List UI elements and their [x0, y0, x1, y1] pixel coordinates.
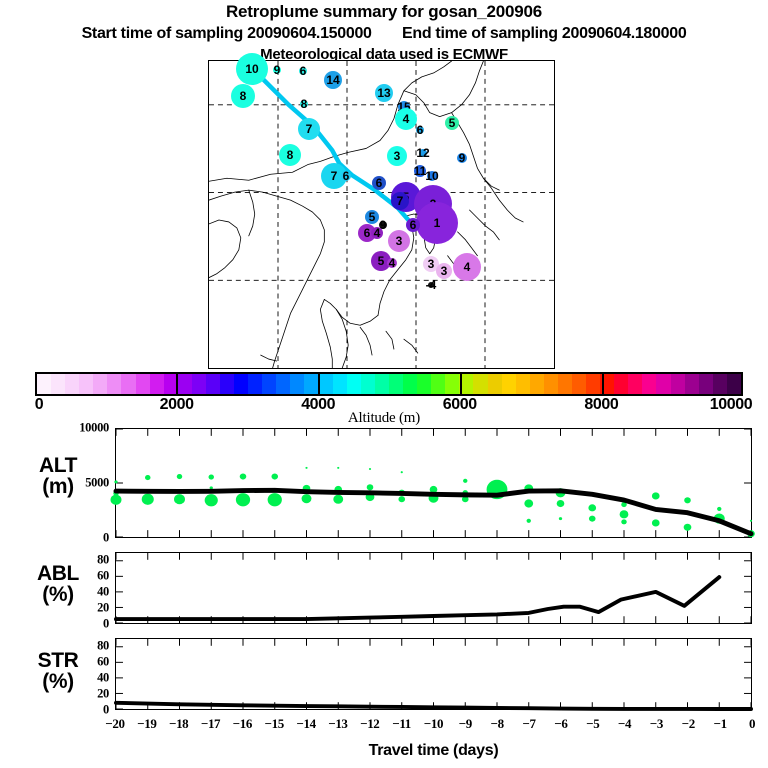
colorbar-swatch [361, 374, 375, 394]
altitude-dot [333, 495, 343, 504]
abl-ytick-20: 20 [97, 601, 109, 616]
map-graphics [209, 61, 554, 368]
altitude-dot [750, 520, 752, 522]
altitude-dot [652, 519, 660, 526]
colorbar-swatch [671, 374, 685, 394]
map-marker-label: 4 [403, 113, 410, 125]
colorbar-sep-4000 [318, 372, 320, 396]
colorbar-swatch [488, 374, 502, 394]
map-marker-label: 5 [449, 117, 456, 129]
xtick--13: −13 [328, 716, 347, 732]
str-axis-label: STR (%) [6, 650, 110, 693]
colorbar-swatch [234, 374, 248, 394]
map-marker-label: 6 [417, 124, 424, 136]
str-plot [116, 639, 751, 709]
abl-axis-label: ABL (%) [6, 563, 110, 606]
str-ytick-80: 80 [97, 639, 109, 654]
page-title: Retroplume summary for gosan_200906 [0, 2, 768, 22]
str-panel[interactable] [115, 638, 752, 710]
colorbar-swatch [333, 374, 347, 394]
alt-ytick-10000: 10000 [79, 421, 109, 436]
map-marker-label: 5 [369, 211, 376, 223]
altitude-dot [305, 467, 307, 469]
map-marker-label: 4 [389, 257, 396, 269]
altitude-dot [271, 473, 278, 479]
altitude-dot [268, 493, 282, 506]
xtick--16: −16 [233, 716, 252, 732]
altitude-dot [111, 495, 122, 505]
xtick--1: −1 [714, 716, 727, 732]
colorbar-swatch [699, 374, 713, 394]
xtick--19: −19 [137, 716, 156, 732]
str-ytick-20: 20 [97, 687, 109, 702]
map-marker-label: 6 [364, 227, 371, 239]
colorbar-swatch [65, 374, 79, 394]
xtick--6: −6 [554, 716, 567, 732]
colorbar-swatch [319, 374, 333, 394]
colorbar-swatch [150, 374, 164, 394]
altitude-panel[interactable] [115, 428, 752, 538]
colorbar-swatch [37, 374, 51, 394]
xtick--2: −2 [682, 716, 695, 732]
start-time-label: Start time of sampling 20090604.150000 [82, 25, 372, 42]
map-marker-label: 12 [416, 147, 429, 159]
map-marker-label: -4 [426, 279, 437, 291]
colorbar-swatch [107, 374, 121, 394]
colorbar-swatch [206, 374, 220, 394]
abl-ytick-80: 80 [97, 553, 109, 568]
colorbar-swatch [614, 374, 628, 394]
colorbar-swatch [417, 374, 431, 394]
altitude-dot [588, 504, 596, 511]
colorbar-swatch [290, 374, 304, 394]
map-marker-label: 10 [425, 170, 438, 182]
xtick--15: −15 [265, 716, 284, 732]
abl-ytick-60: 60 [97, 569, 109, 584]
colorbar-swatch [192, 374, 206, 394]
colorbar-swatch [431, 374, 445, 394]
map-marker-label: 7 [397, 195, 404, 207]
map-marker-label: 6 [343, 170, 350, 182]
altitude-dot [177, 474, 182, 479]
colorbar-swatch [389, 374, 403, 394]
altitude-dot [401, 471, 403, 473]
x-axis-title: Travel time (days) [115, 742, 752, 760]
map-marker-label: 10 [245, 63, 258, 75]
colorbar-swatch [276, 374, 290, 394]
abl-ytick-40: 40 [97, 585, 109, 600]
colorbar-sep-6000 [460, 372, 462, 396]
map-panel[interactable]: 1096881413154567831297611106572516936454… [208, 60, 555, 369]
altitude-dot [240, 473, 247, 479]
alt-ytick-5000: 5000 [85, 476, 109, 491]
abl-ytick-0: 0 [103, 617, 109, 632]
map-marker-label: 3 [441, 265, 448, 277]
altitude-dot [337, 467, 339, 469]
colorbar-swatch [502, 374, 516, 394]
xtick--10: −10 [424, 716, 443, 732]
map-marker-label: 9 [459, 152, 466, 164]
colorbar-swatch [79, 374, 93, 394]
map-marker-label: 4 [464, 261, 471, 273]
colorbar-swatch [572, 374, 586, 394]
xtick--9: −9 [459, 716, 472, 732]
map-marker-label: 7 [306, 123, 313, 135]
xtick-0: 0 [749, 716, 755, 732]
map-marker-label: 13 [377, 87, 390, 99]
altitude-dot [367, 484, 374, 490]
colorbar[interactable] [35, 372, 743, 396]
altitude-dot [145, 475, 150, 480]
colorbar-sep-8000 [602, 372, 604, 396]
abl-line [116, 577, 719, 619]
colorbar-swatch [516, 374, 530, 394]
map-marker-label: 7 [331, 170, 338, 182]
abl-panel[interactable] [115, 552, 752, 624]
altitude-dot [369, 468, 371, 470]
altitude-dot [621, 519, 626, 524]
colorbar-swatch [586, 374, 600, 394]
altitude-dot [652, 492, 660, 499]
altitude-dot [559, 517, 562, 520]
colorbar-swatch [656, 374, 670, 394]
colorbar-swatch [262, 374, 276, 394]
colorbar-swatch [136, 374, 150, 394]
map-marker-label: 6 [376, 177, 383, 189]
colorbar-swatch [375, 374, 389, 394]
map-marker-label: 9 [274, 64, 281, 76]
alt-ytick-0: 0 [103, 531, 109, 546]
map-marker-label: 8 [240, 90, 247, 102]
xtick--20: −20 [105, 716, 124, 732]
altitude-dot [527, 519, 531, 523]
colorbar-swatch [93, 374, 107, 394]
altitude-dot [398, 496, 405, 502]
colorbar-swatch [347, 374, 361, 394]
altitude-particle-dots [111, 467, 755, 537]
map-marker-label: 5 [378, 255, 385, 267]
xtick--12: −12 [360, 716, 379, 732]
altitude-dot [114, 480, 117, 483]
altitude-dot [684, 497, 691, 503]
altitude-dot [557, 500, 565, 507]
colorbar-sep-2000 [176, 372, 178, 396]
colorbar-swatch [727, 374, 741, 394]
xtick--11: −11 [392, 716, 411, 732]
map-marker-label: 8 [287, 149, 294, 161]
map-marker-label: 3 [396, 235, 403, 247]
colorbar-swatch [220, 374, 234, 394]
map-marker-label: 1 [434, 217, 441, 229]
altitude-plot [116, 429, 751, 537]
xtick--4: −4 [618, 716, 631, 732]
colorbar-swatch [51, 374, 65, 394]
xtick--5: −5 [586, 716, 599, 732]
map-marker-label: 14 [326, 74, 339, 86]
altitude-dot [142, 494, 154, 505]
colorbar-swatch [403, 374, 417, 394]
colorbar-swatch [248, 374, 262, 394]
xtick--18: −18 [169, 716, 188, 732]
map-marker-label: 3 [428, 258, 435, 270]
xtick--3: −3 [650, 716, 663, 732]
colorbar-swatch [445, 374, 459, 394]
altitude-dot [684, 524, 692, 531]
altitude-dot [174, 494, 185, 504]
colorbar-swatch [544, 374, 558, 394]
map-marker-label: 6 [410, 219, 417, 231]
altitude-dot [524, 499, 533, 507]
str-ytick-40: 40 [97, 671, 109, 686]
xtick--14: −14 [296, 716, 315, 732]
colorbar-swatch [473, 374, 487, 394]
map-marker-label: 8 [301, 98, 308, 110]
altitude-dot [717, 507, 721, 511]
xtick--17: −17 [201, 716, 220, 732]
xtick--7: −7 [522, 716, 535, 732]
altitude-dot [620, 510, 629, 518]
colorbar-swatch [121, 374, 135, 394]
sampling-times: Start time of sampling 20090604.150000 E… [0, 25, 768, 43]
altitude-dot [205, 494, 218, 506]
altitude-dot [463, 479, 467, 483]
altitude-dot [302, 494, 312, 503]
colorbar-title: Altitude (m) [0, 410, 768, 427]
abl-plot [116, 553, 751, 623]
colorbar-swatch [178, 374, 192, 394]
str-ytick-60: 60 [97, 655, 109, 670]
map-marker-label: 4 [374, 227, 381, 239]
map-marker-label: 3 [394, 150, 401, 162]
colorbar-swatch [304, 374, 318, 394]
colorbar-swatch [642, 374, 656, 394]
map-marker-label: 6 [300, 65, 307, 77]
altitude-dot [209, 475, 214, 480]
colorbar-swatch [628, 374, 642, 394]
colorbar-swatch [558, 374, 572, 394]
altitude-dot [589, 516, 596, 522]
end-time-label: End time of sampling 20090604.180000 [402, 25, 686, 42]
colorbar-swatch [530, 374, 544, 394]
altitude-dot [236, 493, 250, 506]
colorbar-swatch [713, 374, 727, 394]
colorbar-swatch [685, 374, 699, 394]
xtick--8: −8 [491, 716, 504, 732]
